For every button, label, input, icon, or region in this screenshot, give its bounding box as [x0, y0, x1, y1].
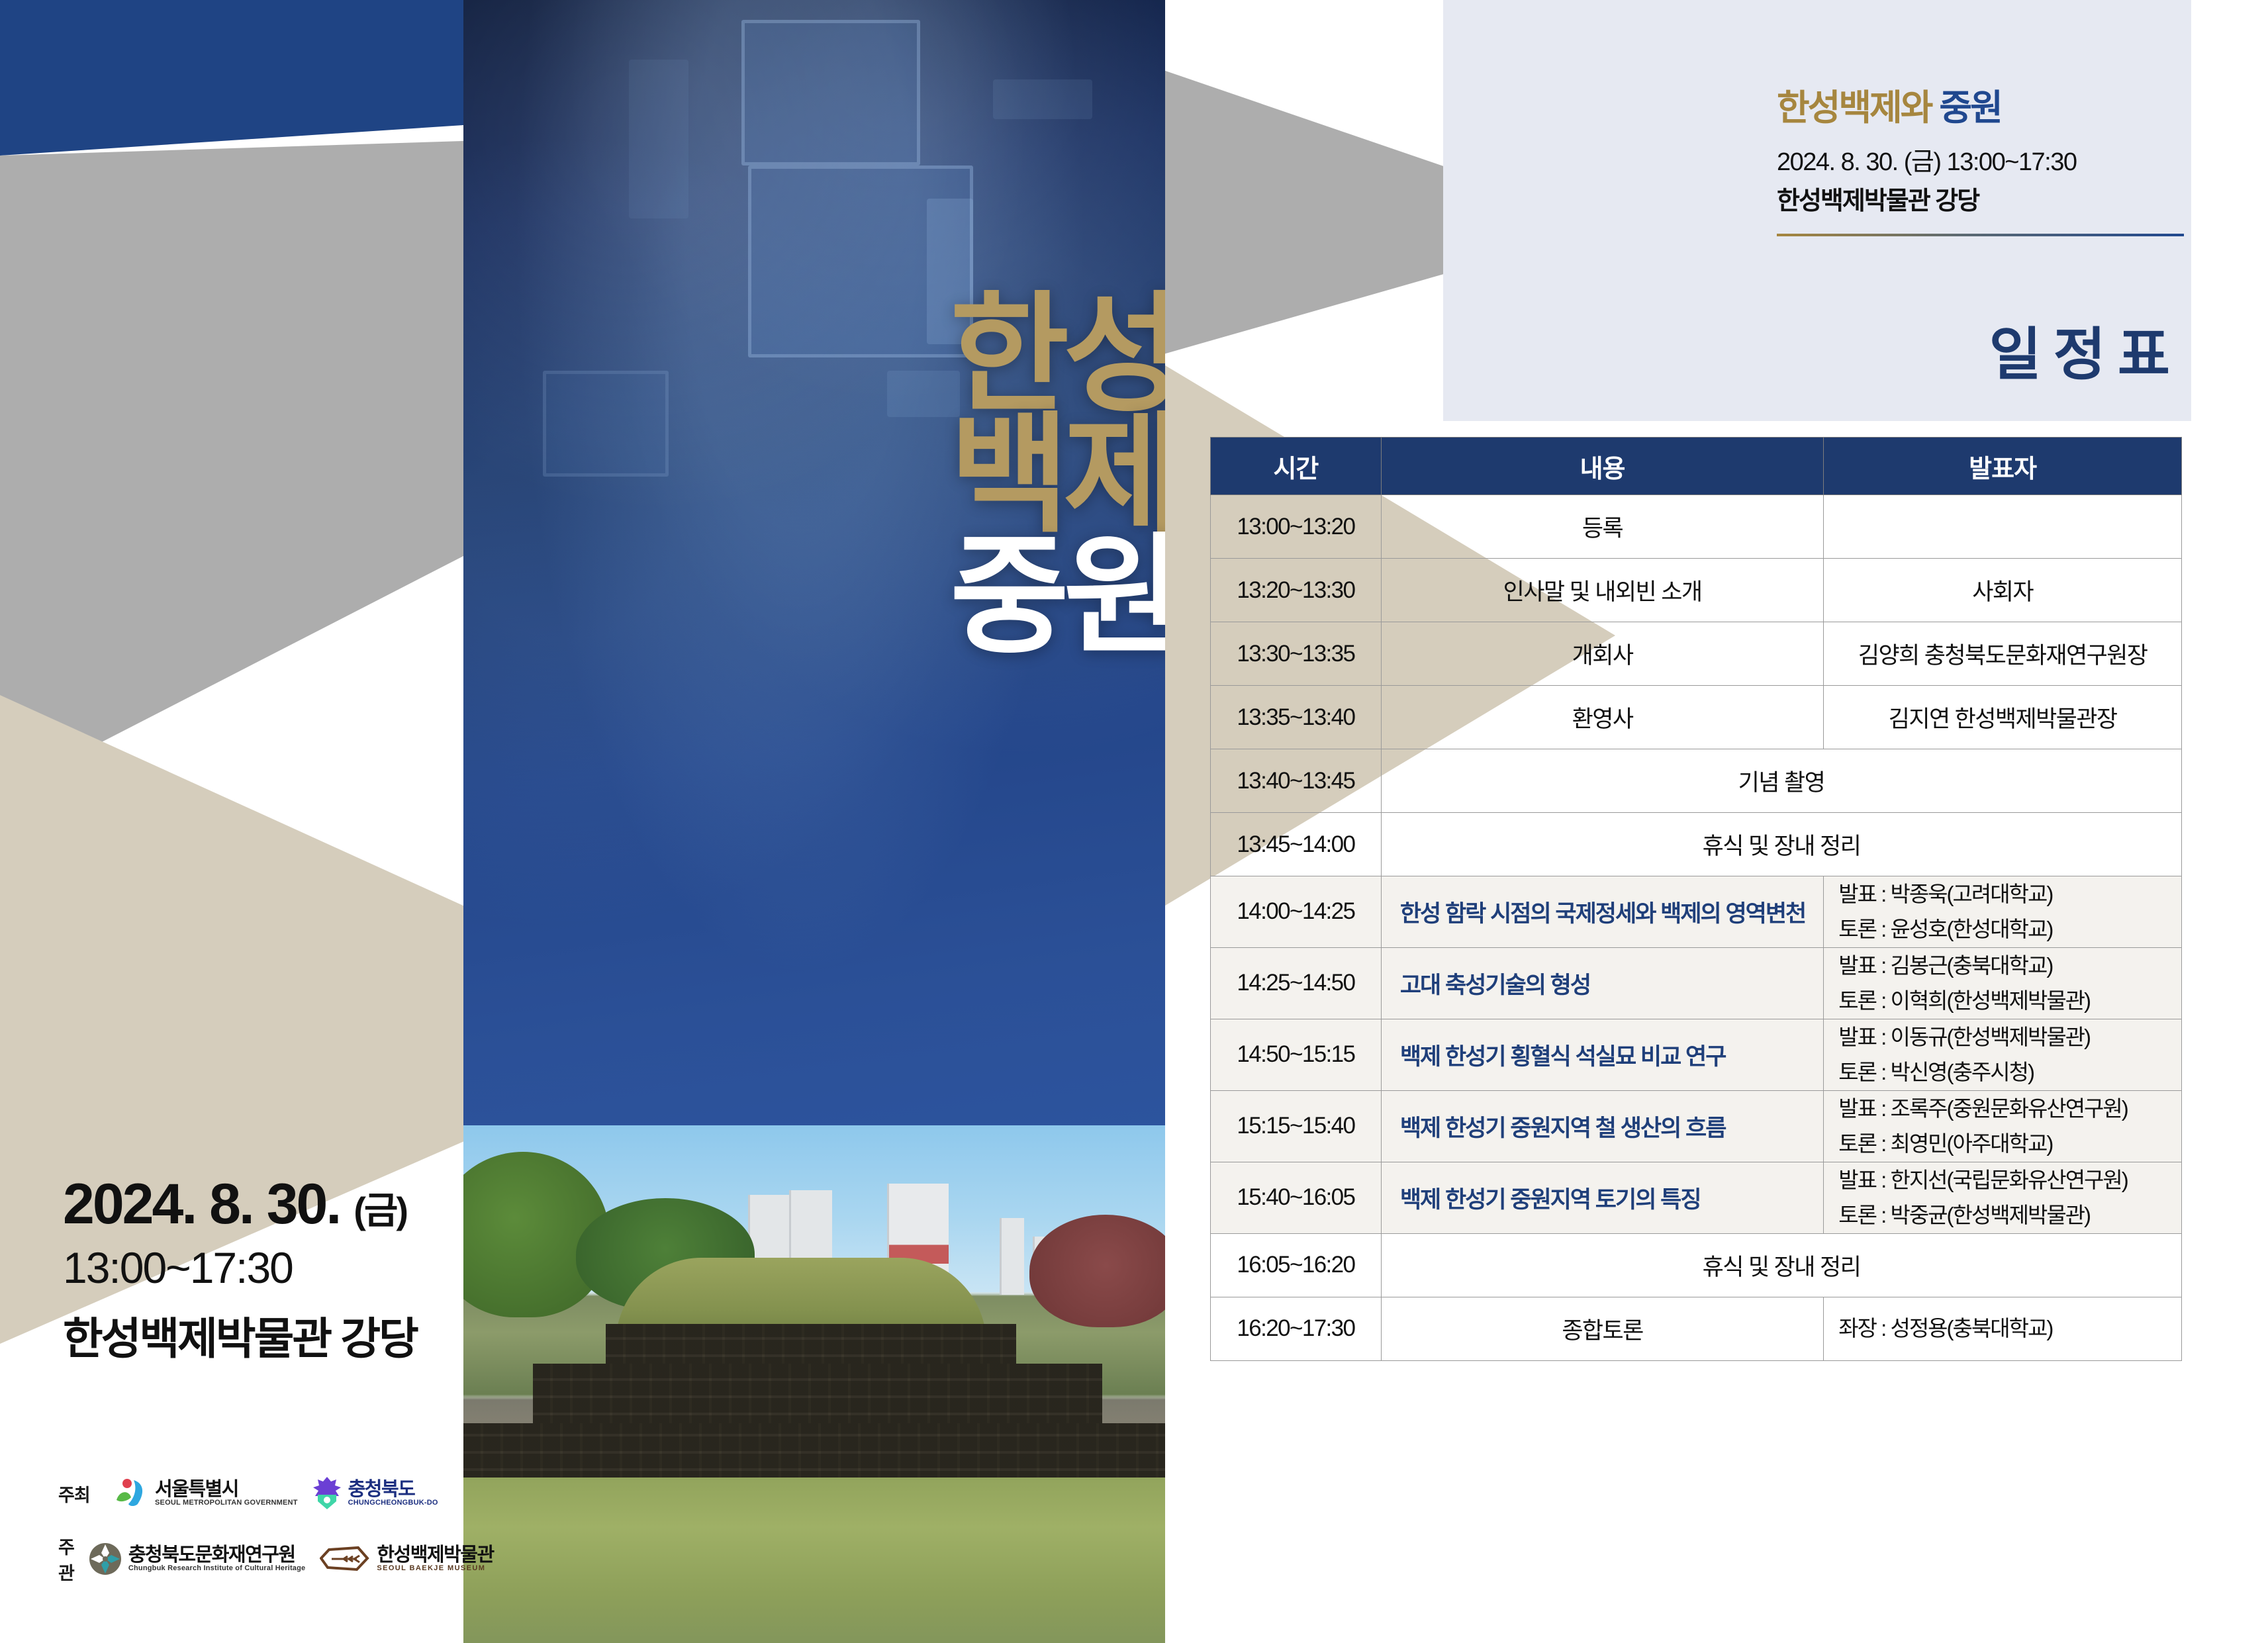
cell-content: 개회사: [1381, 622, 1823, 686]
discussant: 토론 : 이혁희(한성백제박물관): [1838, 983, 2175, 1018]
table-row: 16:05~16:20 휴식 및 장내 정리: [1211, 1233, 2182, 1297]
table-row-presentation: 15:40~16:05 백제 한성기 중원지역 토기의 특징 발표 : 한지선(…: [1211, 1162, 2182, 1233]
schedule-heading: 일정표: [1989, 308, 2182, 391]
discussant: 토론 : 윤성호(한성대학교): [1838, 912, 2175, 947]
event-date-text: 2024. 8. 30.: [63, 1172, 340, 1236]
cell-speaker-discussant: 발표 : 한지선(국립문화유산연구원) 토론 : 박중균(한성백제박물관): [1824, 1162, 2182, 1233]
cell-time: 16:05~16:20: [1211, 1233, 1382, 1297]
cell-time: 13:30~13:35: [1211, 622, 1382, 686]
cell-speaker-discussant: 발표 : 조록주(중원문화유산연구원) 토론 : 최영민(아주대학교): [1824, 1090, 2182, 1162]
right-title-gold: 한성백제와: [1777, 88, 1931, 128]
chungbuk-logo-icon: [312, 1476, 342, 1511]
cell-time: 13:35~13:40: [1211, 686, 1382, 749]
right-header-datetime: 2024. 8. 30. (금) 13:00~17:30: [1777, 141, 2187, 177]
cell-speaker: 김지연 한성백제박물관장: [1824, 686, 2182, 749]
table-row-presentation: 14:25~14:50 고대 축성기술의 형성 발표 : 김봉근(충북대학교) …: [1211, 947, 2182, 1019]
right-header-title: 한성백제와 중원: [1777, 78, 2187, 130]
right-title-blue: 중원: [1939, 88, 2001, 128]
organizer-label: 주관: [58, 1533, 74, 1585]
baekje-museum-logo-icon: [320, 1546, 370, 1572]
seoul-logo-icon: [114, 1478, 148, 1509]
cell-time: 15:40~16:05: [1211, 1162, 1382, 1233]
cell-time: 13:20~13:30: [1211, 559, 1382, 622]
presenter: 발표 : 한지선(국립문화유산연구원): [1838, 1162, 2175, 1197]
table-row-presentation: 14:50~15:15 백제 한성기 횡혈식 석실묘 비교 연구 발표 : 이동…: [1211, 1019, 2182, 1090]
host-label: 주최: [58, 1481, 99, 1507]
cell-time: 13:40~13:45: [1211, 749, 1382, 813]
cell-time: 14:50~15:15: [1211, 1019, 1382, 1090]
cell-speaker: 사회자: [1824, 559, 2182, 622]
cell-presentation-title: 백제 한성기 횡혈식 석실묘 비교 연구: [1381, 1019, 1823, 1090]
column-header-speaker: 발표자: [1824, 438, 2182, 495]
table-row: 13:30~13:35 개회사 김양희 충청북도문화재연구원장: [1211, 622, 2182, 686]
chungbuk-logo-kr: 충청북도: [348, 1479, 438, 1499]
seoul-logo-kr: 서울특별시: [155, 1479, 298, 1499]
logo-chungcheongbuk-do: 충청북도 CHUNGCHEONGBUK-DO: [312, 1476, 438, 1511]
header-divider: [1777, 234, 2184, 236]
table-row-presentation: 15:15~15:40 백제 한성기 중원지역 철 생산의 흐름 발표 : 조록…: [1211, 1090, 2182, 1162]
sponsor-logos: 주최 서울특별시 SEOUL METROPOLITAN GOVERNMENT 충…: [58, 1476, 469, 1607]
cell-presentation-title: 한성 함락 시점의 국제정세와 백제의 영역변천: [1381, 876, 1823, 948]
baekje-tomb-photo: [463, 1125, 1165, 1643]
column-header-time: 시간: [1211, 438, 1382, 495]
logo-seoul-baekje-museum: 한성백제박물관 SEOUL BAEKJE MUSEUM: [320, 1545, 493, 1573]
event-time: 13:00~17:30: [63, 1243, 447, 1293]
tree: [1029, 1215, 1165, 1327]
cell-time: 14:25~14:50: [1211, 947, 1382, 1019]
presenter: 발표 : 조록주(중원문화유산연구원): [1838, 1091, 2175, 1126]
cell-content: 등록: [1381, 495, 1823, 559]
column-header-content: 내용: [1381, 438, 1823, 495]
cell-content: 인사말 및 내외빈 소개: [1381, 559, 1823, 622]
cell-content: 환영사: [1381, 686, 1823, 749]
title-line-hanseong: 한성: [950, 295, 1165, 415]
cell-speaker-discussant: 발표 : 김봉근(충북대학교) 토론 : 이혁희(한성백제박물관): [1824, 947, 2182, 1019]
cell-content: 종합토론: [1381, 1297, 1823, 1360]
logo-seoul-metropolitan-government: 서울특별시 SEOUL METROPOLITAN GOVERNMENT: [114, 1478, 298, 1509]
cbrich-logo-kr: 충청북도문화재연구원: [128, 1545, 306, 1565]
event-date: 2024. 8. 30. (금): [63, 1172, 447, 1237]
presenter: 발표 : 박종욱(고려대학교): [1838, 876, 2175, 912]
table-header-row: 시간 내용 발표자: [1211, 438, 2182, 495]
discussant: 토론 : 박중균(한성백제박물관): [1838, 1197, 2175, 1233]
photo-column: 한성 백제와 중원: [463, 0, 1165, 1643]
cell-presentation-title: 백제 한성기 중원지역 철 생산의 흐름: [1381, 1090, 1823, 1162]
cell-speaker: 김양희 충청북도문화재연구원장: [1824, 622, 2182, 686]
organizer-row: 주관 충청북도문화재연구원 Chungbuk Research Institut…: [58, 1533, 469, 1585]
cell-presentation-title: 고대 축성기술의 형성: [1381, 947, 1823, 1019]
poster-main-title: 한성 백제와 중원: [950, 295, 1165, 657]
cell-content-span: 휴식 및 장내 정리: [1381, 813, 2181, 876]
presenter: 발표 : 김봉근(충북대학교): [1838, 948, 2175, 983]
table-row: 16:20~17:30 종합토론 좌장 : 성정용(충북대학교): [1211, 1297, 2182, 1360]
cell-content-span: 휴식 및 장내 정리: [1381, 1233, 2181, 1297]
table-row: 13:45~14:00 휴식 및 장내 정리: [1211, 813, 2182, 876]
title-line-baekjewa: 백제와: [950, 415, 1165, 536]
cell-time: 15:15~15:40: [1211, 1090, 1382, 1162]
cell-time: 14:00~14:25: [1211, 876, 1382, 948]
event-day-of-week: (금): [354, 1190, 406, 1231]
event-date-block: 2024. 8. 30. (금) 13:00~17:30 한성백제박물관 강당: [63, 1172, 447, 1367]
cell-content-span: 기념 촬영: [1381, 749, 2181, 813]
schedule-table: 시간 내용 발표자 13:00~13:20 등록 13:20~13:30 인사말…: [1210, 437, 2182, 1361]
stone-wall-tier: [533, 1364, 1102, 1430]
cbrich-logo-icon: [89, 1542, 122, 1575]
right-header-venue: 한성백제박물관 강당: [1777, 180, 2187, 216]
table-row-presentation: 14:00~14:25 한성 함락 시점의 국제정세와 백제의 영역변천 발표 …: [1211, 876, 2182, 948]
title-line-jungwon: 중원: [950, 536, 1165, 657]
table-row: 13:20~13:30 인사말 및 내외빈 소개 사회자: [1211, 559, 2182, 622]
cbrich-logo-en: Chungbuk Research Institute of Cultural …: [128, 1565, 306, 1573]
cell-time: 13:00~13:20: [1211, 495, 1382, 559]
cell-speaker: 좌장 : 성정용(충북대학교): [1824, 1297, 2182, 1360]
table-row: 13:40~13:45 기념 촬영: [1211, 749, 2182, 813]
cell-time: 13:45~14:00: [1211, 813, 1382, 876]
grass-field: [463, 1478, 1165, 1643]
discussant: 토론 : 박신영(충주시청): [1838, 1055, 2175, 1090]
baekje-museum-logo-kr: 한성백제박물관: [377, 1545, 493, 1565]
cell-presentation-title: 백제 한성기 중원지역 토기의 특징: [1381, 1162, 1823, 1233]
building: [1000, 1218, 1024, 1295]
host-row: 주최 서울특별시 SEOUL METROPOLITAN GOVERNMENT 충…: [58, 1476, 469, 1511]
discussant: 토론 : 최영민(아주대학교): [1838, 1126, 2175, 1161]
table-row: 13:00~13:20 등록: [1211, 495, 2182, 559]
logo-chungbuk-research-institute: 충청북도문화재연구원 Chungbuk Research Institute o…: [89, 1542, 306, 1575]
table-row: 13:35~13:40 환영사 김지연 한성백제박물관장: [1211, 686, 2182, 749]
cell-time: 16:20~17:30: [1211, 1297, 1382, 1360]
cell-speaker: [1824, 495, 2182, 559]
cell-speaker-discussant: 발표 : 박종욱(고려대학교) 토론 : 윤성호(한성대학교): [1824, 876, 2182, 948]
presenter: 발표 : 이동규(한성백제박물관): [1838, 1019, 2175, 1055]
seoul-logo-en: SEOUL METROPOLITAN GOVERNMENT: [155, 1499, 298, 1507]
baekje-museum-logo-en: SEOUL BAEKJE MUSEUM: [377, 1565, 493, 1573]
right-header: 한성백제와 중원 2024. 8. 30. (금) 13:00~17:30 한성…: [1777, 78, 2187, 236]
chungbuk-logo-en: CHUNGCHEONGBUK-DO: [348, 1499, 438, 1507]
event-venue: 한성백제박물관 강당: [63, 1303, 447, 1367]
cell-speaker-discussant: 발표 : 이동규(한성백제박물관) 토론 : 박신영(충주시청): [1824, 1019, 2182, 1090]
